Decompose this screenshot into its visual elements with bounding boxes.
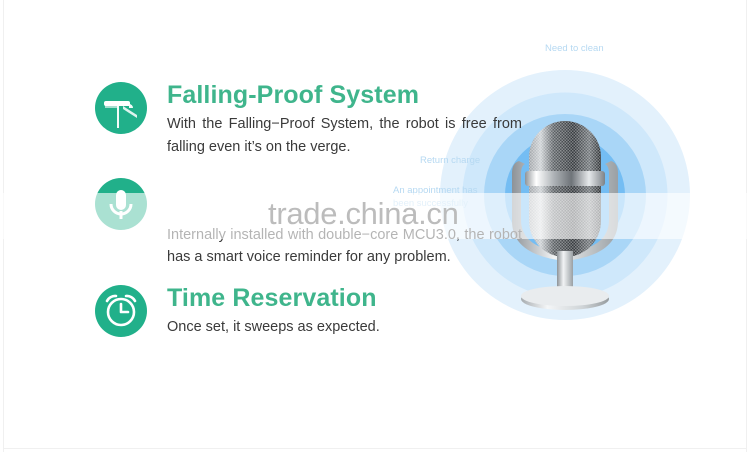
feature-title: Time Reservation [167,285,380,311]
feature-voice-reminder: Internally installed with double−core MC… [95,178,522,269]
callout-need-to-clean: Need to clean [545,43,604,56]
feature-title: Falling-Proof System [167,82,522,108]
voice-capsule-icon [95,178,147,230]
feature-icon-wrap [95,285,147,337]
frame-border-right [746,0,747,452]
feature-description: Internally installed with double−core MC… [167,224,522,269]
mic-yoke [512,161,618,261]
promo-banner: Need to clean Return charge An appointme… [0,0,750,452]
feature-description: With the Falling−Proof System, the robot… [167,113,522,158]
feature-falling-proof-system: Falling-Proof System With the Falling−Pr… [95,82,522,158]
feature-icon-wrap [95,178,147,230]
mic-stem [557,251,573,295]
mic-base [521,288,609,310]
falling-proof-edge-icon [95,82,147,134]
feature-text-block: Falling-Proof System With the Falling−Pr… [167,82,522,158]
feature-description: Once set, it sweeps as expected. [167,316,380,338]
content-panel: Need to clean Return charge An appointme… [35,30,715,360]
sound-wave-ring-4 [505,135,625,255]
frame-border-bottom [3,448,747,449]
feature-icon-wrap [95,82,147,134]
mic-mesh [529,121,601,257]
feature-text-block: Internally installed with double−core MC… [167,178,522,269]
alarm-clock-icon [95,285,147,337]
feature-time-reservation: Time Reservation Once set, it sweeps as … [95,285,380,339]
feature-text-block: Time Reservation Once set, it sweeps as … [167,285,380,339]
mic-band [525,171,605,186]
frame-border-left [3,0,4,452]
mic-capsule [529,121,601,257]
mic-base-top [521,286,609,306]
